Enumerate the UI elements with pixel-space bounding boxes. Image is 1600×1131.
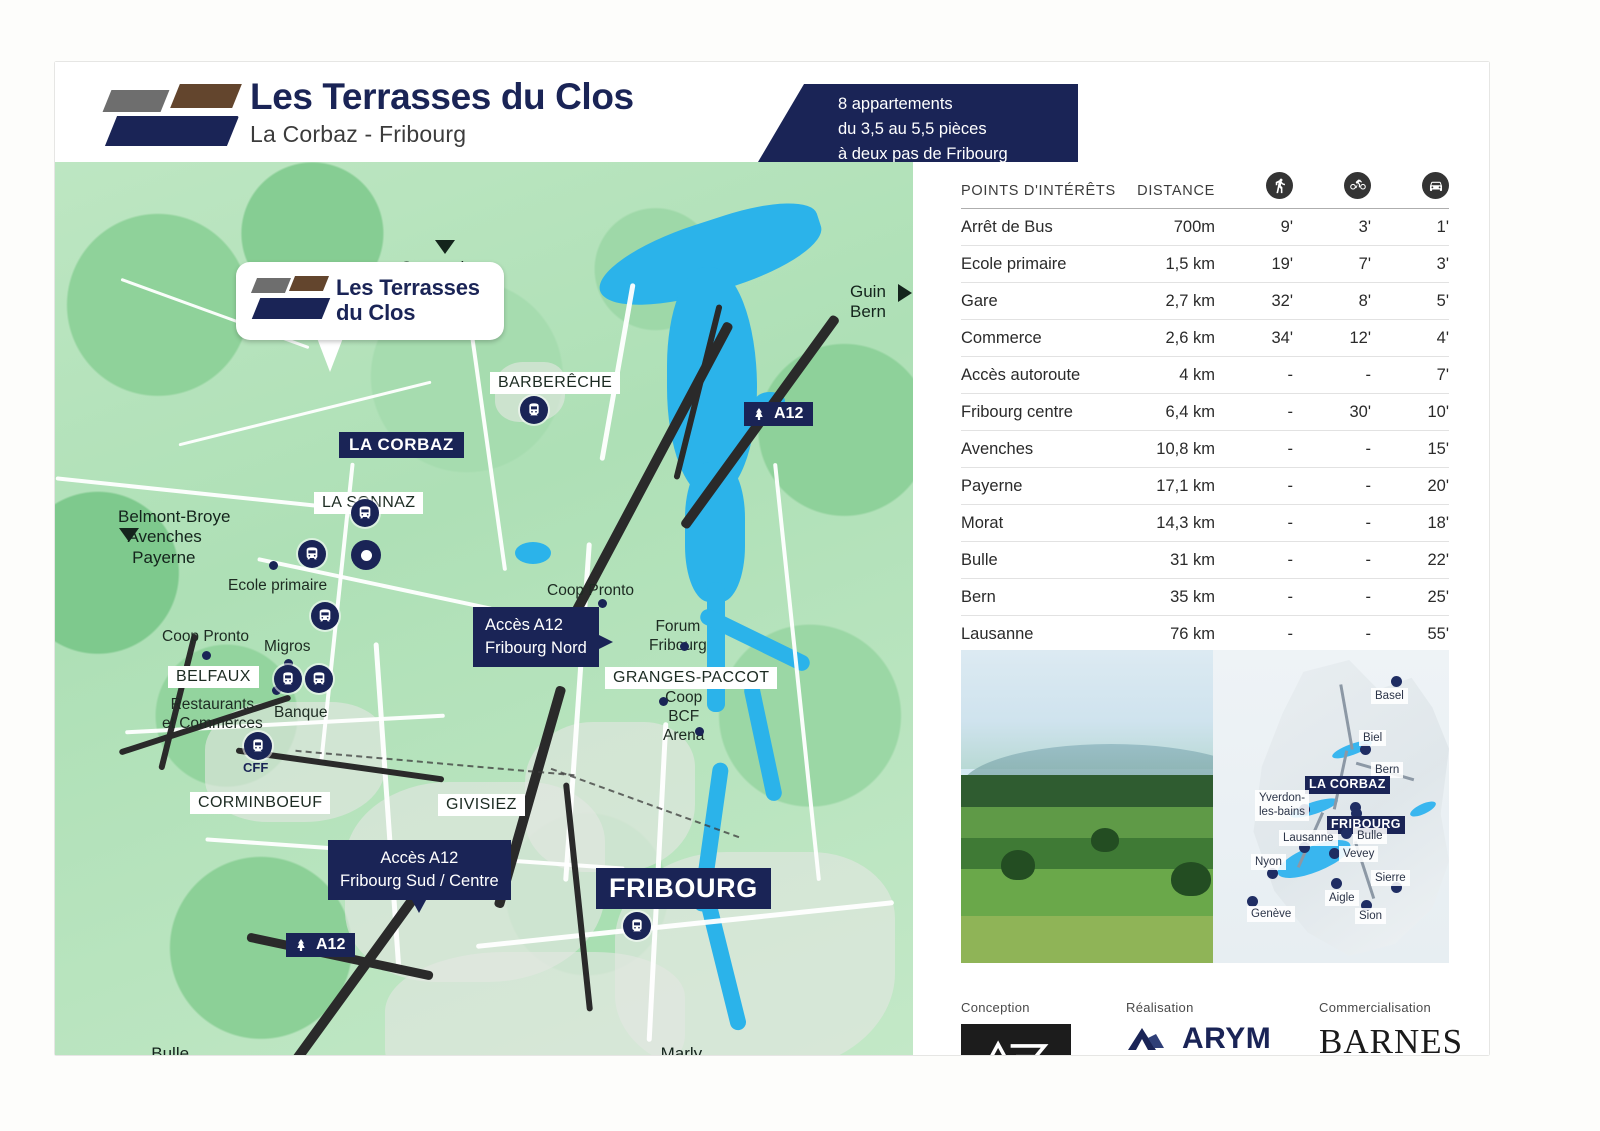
page-title: Les Terrasses du Clos: [250, 78, 634, 117]
table-row: Gare2,7 km32'8'5': [961, 283, 1449, 320]
pointer-arrow-icon: [407, 891, 431, 913]
cell-bike: -: [1293, 468, 1371, 505]
motorway-icon: [292, 938, 310, 952]
cell-car: 7': [1371, 357, 1449, 394]
direction-arrow-icon: [898, 284, 912, 302]
callout-tail-icon: [317, 338, 343, 372]
site-location-marker[interactable]: [351, 540, 381, 570]
cell-bike: 12': [1293, 320, 1371, 357]
table-row: Fribourg centre6,4 km-30'10': [961, 394, 1449, 431]
cell-poi: Commerce: [961, 320, 1119, 357]
bus-stop-pin[interactable]: [305, 665, 333, 693]
town-label-belfaux: BELFAUX: [168, 666, 259, 688]
city-dot-basel: [1391, 676, 1402, 687]
cell-poi: Arrêt de Bus: [961, 209, 1119, 246]
direction-arrow-icon: [435, 240, 455, 254]
cell-distance: 31 km: [1119, 542, 1215, 579]
photo-tree: [1001, 850, 1035, 880]
cell-walk: -: [1215, 616, 1293, 653]
table-header-row: POINTS D'INTÉRÊTS DISTANCE: [961, 172, 1449, 209]
poi-label-forum-fribourg: ForumFribourg: [649, 617, 707, 656]
th-poi: POINTS D'INTÉRÊTS: [961, 172, 1119, 209]
cell-distance: 6,4 km: [1119, 394, 1215, 431]
cell-poi: Ecole primaire: [961, 246, 1119, 283]
cell-distance: 1,5 km: [1119, 246, 1215, 283]
bus-stop-pin[interactable]: [311, 602, 339, 630]
cell-car: 22': [1371, 542, 1449, 579]
city-label-bulle: Bulle: [1353, 828, 1387, 844]
cell-distance: 35 km: [1119, 579, 1215, 616]
cell-car: 25': [1371, 579, 1449, 616]
location-map[interactable]: CourtepinMorat GuinBern Belmont-Broye Av…: [55, 162, 913, 1055]
map-dot: [680, 642, 689, 651]
train-station-pin[interactable]: [274, 665, 302, 693]
callout-text: Les Terrasses du Clos: [336, 276, 480, 325]
cell-walk: 32': [1215, 283, 1293, 320]
promo-line-1: 8 appartements: [838, 92, 1078, 117]
city-label-geneve: Genève: [1247, 906, 1295, 922]
cell-distance: 10,8 km: [1119, 431, 1215, 468]
cell-walk: -: [1215, 542, 1293, 579]
motorway-badge-a12-north: A12: [744, 402, 813, 426]
photo-tree: [1091, 828, 1119, 852]
poi-label-cff: CFF: [243, 760, 268, 775]
table-row: Bern35 km--25': [961, 579, 1449, 616]
th-distance: DISTANCE: [1119, 172, 1215, 209]
city-label-nyon: Nyon: [1251, 854, 1286, 870]
direction-label-guin-bern: GuinBern: [850, 282, 886, 323]
cell-walk: -: [1215, 357, 1293, 394]
cell-walk: -: [1215, 505, 1293, 542]
points-of-interest-table: POINTS D'INTÉRÊTS DISTANCE: [961, 172, 1449, 652]
terrasses-logo-icon: [103, 84, 233, 146]
town-label-barbereche: BARBERÊCHE: [490, 372, 620, 394]
cell-poi: Lausanne: [961, 616, 1119, 653]
motorway-icon: [750, 407, 768, 421]
credit-caption: Réalisation: [1126, 1000, 1272, 1015]
car-icon: [1422, 172, 1449, 199]
city-label-sierre: Sierre: [1371, 870, 1410, 886]
map-dot: [202, 651, 211, 660]
train-station-pin-fribourg[interactable]: [623, 912, 651, 940]
cell-poi: Payerne: [961, 468, 1119, 505]
cell-car: 10': [1371, 394, 1449, 431]
cell-bike: 30': [1293, 394, 1371, 431]
river-sarine: [707, 582, 725, 712]
credit-commercialisation: Commercialisation BARNES INTERNATIONAL R…: [1319, 1000, 1463, 1055]
town-label-givisiez: GIVISIEZ: [438, 794, 525, 816]
city-label-biel: Biel: [1359, 730, 1386, 746]
city-dot-aigle: [1331, 878, 1342, 889]
map-dot: [695, 727, 704, 736]
cell-distance: 2,7 km: [1119, 283, 1215, 320]
cell-poi: Morat: [961, 505, 1119, 542]
table-row: Arrêt de Bus700m9'3'1': [961, 209, 1449, 246]
table-row: Avenches10,8 km--15': [961, 431, 1449, 468]
city-label-sion: Sion: [1355, 908, 1386, 924]
map-dot: [269, 561, 278, 570]
poi-label-banque: Banque: [274, 704, 327, 722]
th-walk: [1215, 172, 1293, 209]
cell-poi: Bulle: [961, 542, 1119, 579]
cell-car: 3': [1371, 246, 1449, 283]
map-dot: [598, 599, 607, 608]
table-body: Arrêt de Bus700m9'3'1' Ecole primaire1,5…: [961, 209, 1449, 653]
cell-poi: Bern: [961, 579, 1119, 616]
poi-label-ecole-primaire: Ecole primaire: [228, 577, 327, 595]
cell-distance: 700m: [1119, 209, 1215, 246]
table-row: Bulle31 km--22': [961, 542, 1449, 579]
cell-car: 5': [1371, 283, 1449, 320]
walking-icon: [1266, 172, 1293, 199]
town-label-granges-paccot: GRANGES-PACCOT: [605, 667, 777, 689]
access-pointer-fribourg-nord: Accès A12 Fribourg Nord: [473, 607, 599, 667]
table-row: Morat14,3 km--18': [961, 505, 1449, 542]
cell-bike: 7': [1293, 246, 1371, 283]
promo-line-2: du 3,5 au 5,5 pièces: [838, 117, 1078, 142]
page-subtitle: La Corbaz - Fribourg: [250, 121, 634, 148]
cell-distance: 76 km: [1119, 616, 1215, 653]
urban-area: [385, 952, 685, 1055]
motorway-badge-a12-south: A12: [286, 933, 355, 957]
poi-label-coop-pronto-belfaux: Coop Pronto: [162, 628, 249, 646]
town-label-corminboeuf: CORMINBOEUF: [190, 792, 330, 814]
cell-poi: Fribourg centre: [961, 394, 1119, 431]
promo-banner: 8 appartements du 3,5 au 5,5 pièces à de…: [758, 84, 1078, 162]
cell-bike: -: [1293, 431, 1371, 468]
site-label-la-corbaz: LA CORBAZ: [339, 432, 464, 458]
poi-label-restaurants: Restaurantset Commerces: [162, 695, 263, 734]
th-bike: [1293, 172, 1371, 209]
arym-wordmark: ARYM: [1182, 1024, 1271, 1054]
cell-distance: 17,1 km: [1119, 468, 1215, 505]
city-label-aigle: Aigle: [1325, 890, 1359, 906]
train-station-pin[interactable]: [520, 396, 548, 424]
cell-walk: -: [1215, 468, 1293, 505]
acd-logo-icon: [961, 1024, 1071, 1055]
cell-walk: -: [1215, 394, 1293, 431]
direction-arrow-icon: [119, 528, 139, 542]
table-row: Payerne17,1 km--20': [961, 468, 1449, 505]
city-dot-bulle: [1341, 828, 1352, 839]
page-header: Les Terrasses du Clos La Corbaz - Fribou…: [55, 62, 1489, 162]
cell-distance: 14,3 km: [1119, 505, 1215, 542]
cell-car: 4': [1371, 320, 1449, 357]
town-label-fribourg: FRIBOURG: [596, 868, 771, 909]
pointer-arrow-icon: [591, 631, 613, 653]
cell-car: 18': [1371, 505, 1449, 542]
cell-poi: Gare: [961, 283, 1119, 320]
acd-mark: [979, 1037, 1053, 1055]
cell-car: 1': [1371, 209, 1449, 246]
cell-walk: 34': [1215, 320, 1293, 357]
arym-logo-icon: ARYM IMMOBILIER: [1126, 1024, 1272, 1055]
cell-walk: -: [1215, 431, 1293, 468]
title-block: Les Terrasses du Clos La Corbaz - Fribou…: [250, 78, 634, 148]
switzerland-inset-map[interactable]: Basel Biel Bern LA CORBAZ FRIBOURG Yverd…: [1213, 650, 1449, 963]
bus-stop-pin[interactable]: [351, 499, 379, 527]
barnes-wordmark: BARNES: [1319, 1024, 1463, 1055]
pond: [515, 542, 551, 564]
city-label-lausanne: Lausanne: [1279, 830, 1338, 846]
bus-stop-pin[interactable]: [298, 540, 326, 568]
table-row: Ecole primaire1,5 km19'7'3': [961, 246, 1449, 283]
cell-bike: 3': [1293, 209, 1371, 246]
poi-label-migros: Migros: [264, 638, 311, 656]
city-label-vevey: Vevey: [1339, 846, 1378, 862]
table-row: Accès autoroute4 km--7': [961, 357, 1449, 394]
table-row: Commerce2,6 km34'12'4': [961, 320, 1449, 357]
credit-caption: Commercialisation: [1319, 1000, 1463, 1015]
cell-walk: -: [1215, 579, 1293, 616]
cell-bike: 8': [1293, 283, 1371, 320]
cell-bike: -: [1293, 579, 1371, 616]
brochure-page: Les Terrasses du Clos La Corbaz - Fribou…: [55, 62, 1489, 1055]
cell-poi: Accès autoroute: [961, 357, 1119, 394]
credit-realisation: Réalisation ARYM IMMOBILIER: [1126, 1000, 1272, 1055]
photo-tree: [1171, 862, 1211, 896]
cell-bike: -: [1293, 357, 1371, 394]
cell-bike: -: [1293, 542, 1371, 579]
credit-caption: Conception: [961, 1000, 1071, 1015]
th-car: [1371, 172, 1449, 209]
terrasses-logo-icon: [252, 276, 326, 322]
poi-label-coop-pronto-granges: Coop Pronto: [547, 582, 634, 600]
bicycle-icon: [1344, 172, 1371, 199]
info-panel: POINTS D'INTÉRÊTS DISTANCE: [913, 162, 1489, 1055]
barnes-logo-icon: BARNES INTERNATIONAL REALTY: [1319, 1024, 1463, 1055]
poi-label-bcf-arena: CoopBCFArena: [663, 689, 704, 746]
inset-label-la-corbaz: LA CORBAZ: [1305, 776, 1390, 794]
cell-car: 55': [1371, 616, 1449, 653]
cell-car: 15': [1371, 431, 1449, 468]
train-station-pin-cff[interactable]: [244, 732, 272, 760]
cell-distance: 4 km: [1119, 357, 1215, 394]
arym-mark: [1126, 1024, 1174, 1054]
credits-row: Conception Réalisation: [961, 1000, 1461, 1055]
cell-walk: 9': [1215, 209, 1293, 246]
city-label-basel: Basel: [1371, 688, 1408, 704]
cell-walk: 19': [1215, 246, 1293, 283]
map-dot: [659, 697, 668, 706]
credit-conception: Conception: [961, 1000, 1071, 1055]
cell-bike: -: [1293, 616, 1371, 653]
city-label-yverdon: Yverdon-les-bains: [1255, 790, 1309, 821]
direction-label-bulle-vevey: BulleVevey: [147, 1044, 193, 1055]
direction-label-marly: MarlyLa Roche: [645, 1044, 718, 1055]
cell-distance: 2,6 km: [1119, 320, 1215, 357]
cell-poi: Avenches: [961, 431, 1119, 468]
table-row: Lausanne76 km--55': [961, 616, 1449, 653]
site-callout[interactable]: Les Terrasses du Clos: [236, 262, 504, 340]
cell-car: 20': [1371, 468, 1449, 505]
cell-bike: -: [1293, 505, 1371, 542]
